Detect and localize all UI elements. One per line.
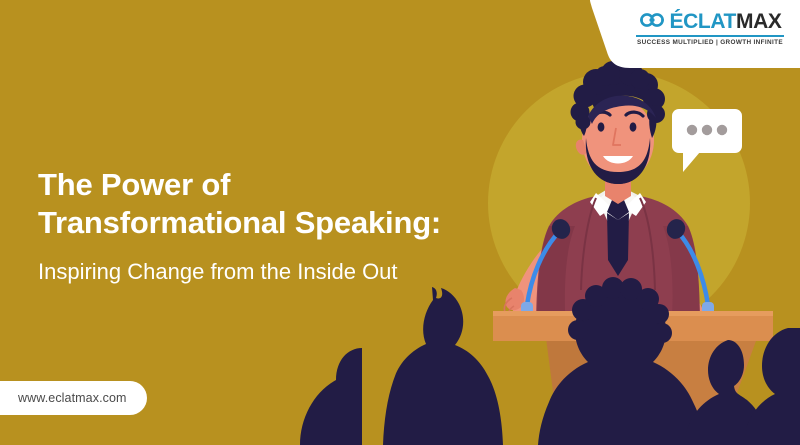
brand-logo[interactable]: ÉCLATMAX SUCCESS MULTIPLIED | GROWTH INF… [634,11,786,46]
brand-word-eclat: ÉCLAT [670,10,736,33]
brand-tagline: SUCCESS MULTIPLIED | GROWTH INFINITE [634,40,786,46]
website-url-pill[interactable]: www.eclatmax.com [0,381,147,415]
brand-wordmark: ÉCLATMAX [670,11,782,32]
headline-subtitle: Inspiring Change from the Inside Out [38,258,468,286]
headline-block: The Power of Transformational Speaking: … [38,166,468,285]
headline-line-1: The Power of [38,166,468,204]
promo-banner: ÉCLATMAX SUCCESS MULTIPLIED | GROWTH INF… [0,0,800,445]
website-url-text: www.eclatmax.com [18,391,127,405]
interlocking-rings-icon [639,12,665,32]
background-accent-circle [488,72,750,334]
podium [545,330,760,445]
brand-word-max: MAX [736,10,781,33]
headline-line-2: Transformational Speaking: [38,204,468,242]
logo-divider-rule [636,35,784,37]
